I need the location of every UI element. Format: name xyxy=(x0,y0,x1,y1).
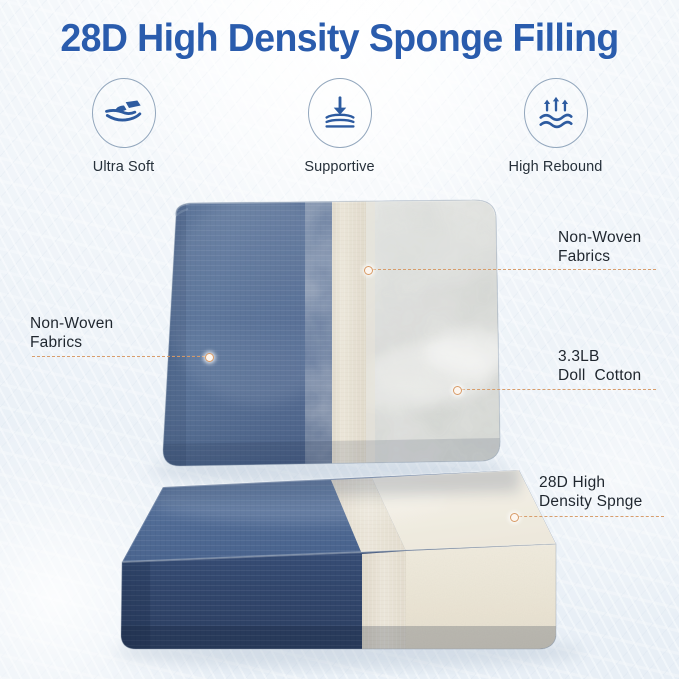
hand-holding-soft-icon xyxy=(104,98,144,128)
leader-dot-sponge xyxy=(510,513,519,522)
feature-label-supportive: Supportive xyxy=(280,159,400,175)
feature-supportive: Supportive xyxy=(280,78,400,175)
header: 28D High Density Sponge Filling xyxy=(0,0,679,61)
leader-line-doll-cotton xyxy=(457,389,656,391)
page-title: 28D High Density Sponge Filling xyxy=(14,0,666,61)
feature-icon-circle-ultra-soft xyxy=(92,78,156,148)
callout-text-high-density-sponge: 28D High Density Spnge xyxy=(539,473,642,511)
backrest-pillow xyxy=(150,190,515,480)
callout-text-right-non-woven: Non-Woven Fabrics xyxy=(558,228,641,266)
callout-text-doll-cotton: 3.3LB Doll Cotton xyxy=(558,347,641,385)
arrow-down-layers-icon xyxy=(322,96,358,130)
feature-label-ultra-soft: Ultra Soft xyxy=(64,159,184,175)
leader-line-high-density-sponge xyxy=(514,516,664,518)
feature-high-rebound: High Rebound xyxy=(496,78,616,175)
feature-list: Ultra Soft Supportive xyxy=(0,78,679,175)
arrows-up-waves-icon xyxy=(537,96,575,130)
feature-icon-circle-high-rebound xyxy=(524,78,588,148)
leader-dot-left-fabric xyxy=(205,353,214,362)
feature-label-high-rebound: High Rebound xyxy=(496,159,616,175)
leader-dot-backrest-non-woven xyxy=(364,266,373,275)
feature-icon-circle-supportive xyxy=(308,78,372,148)
leader-dot-doll-cotton xyxy=(453,386,462,395)
feature-ultra-soft: Ultra Soft xyxy=(64,78,184,175)
product-infographic: 28D High Density Sponge Filling Ultra So… xyxy=(0,0,679,679)
leader-line-left-non-woven xyxy=(32,356,210,358)
callout-text-left-non-woven: Non-Woven Fabrics xyxy=(30,314,113,352)
leader-line-right-non-woven xyxy=(368,269,656,271)
